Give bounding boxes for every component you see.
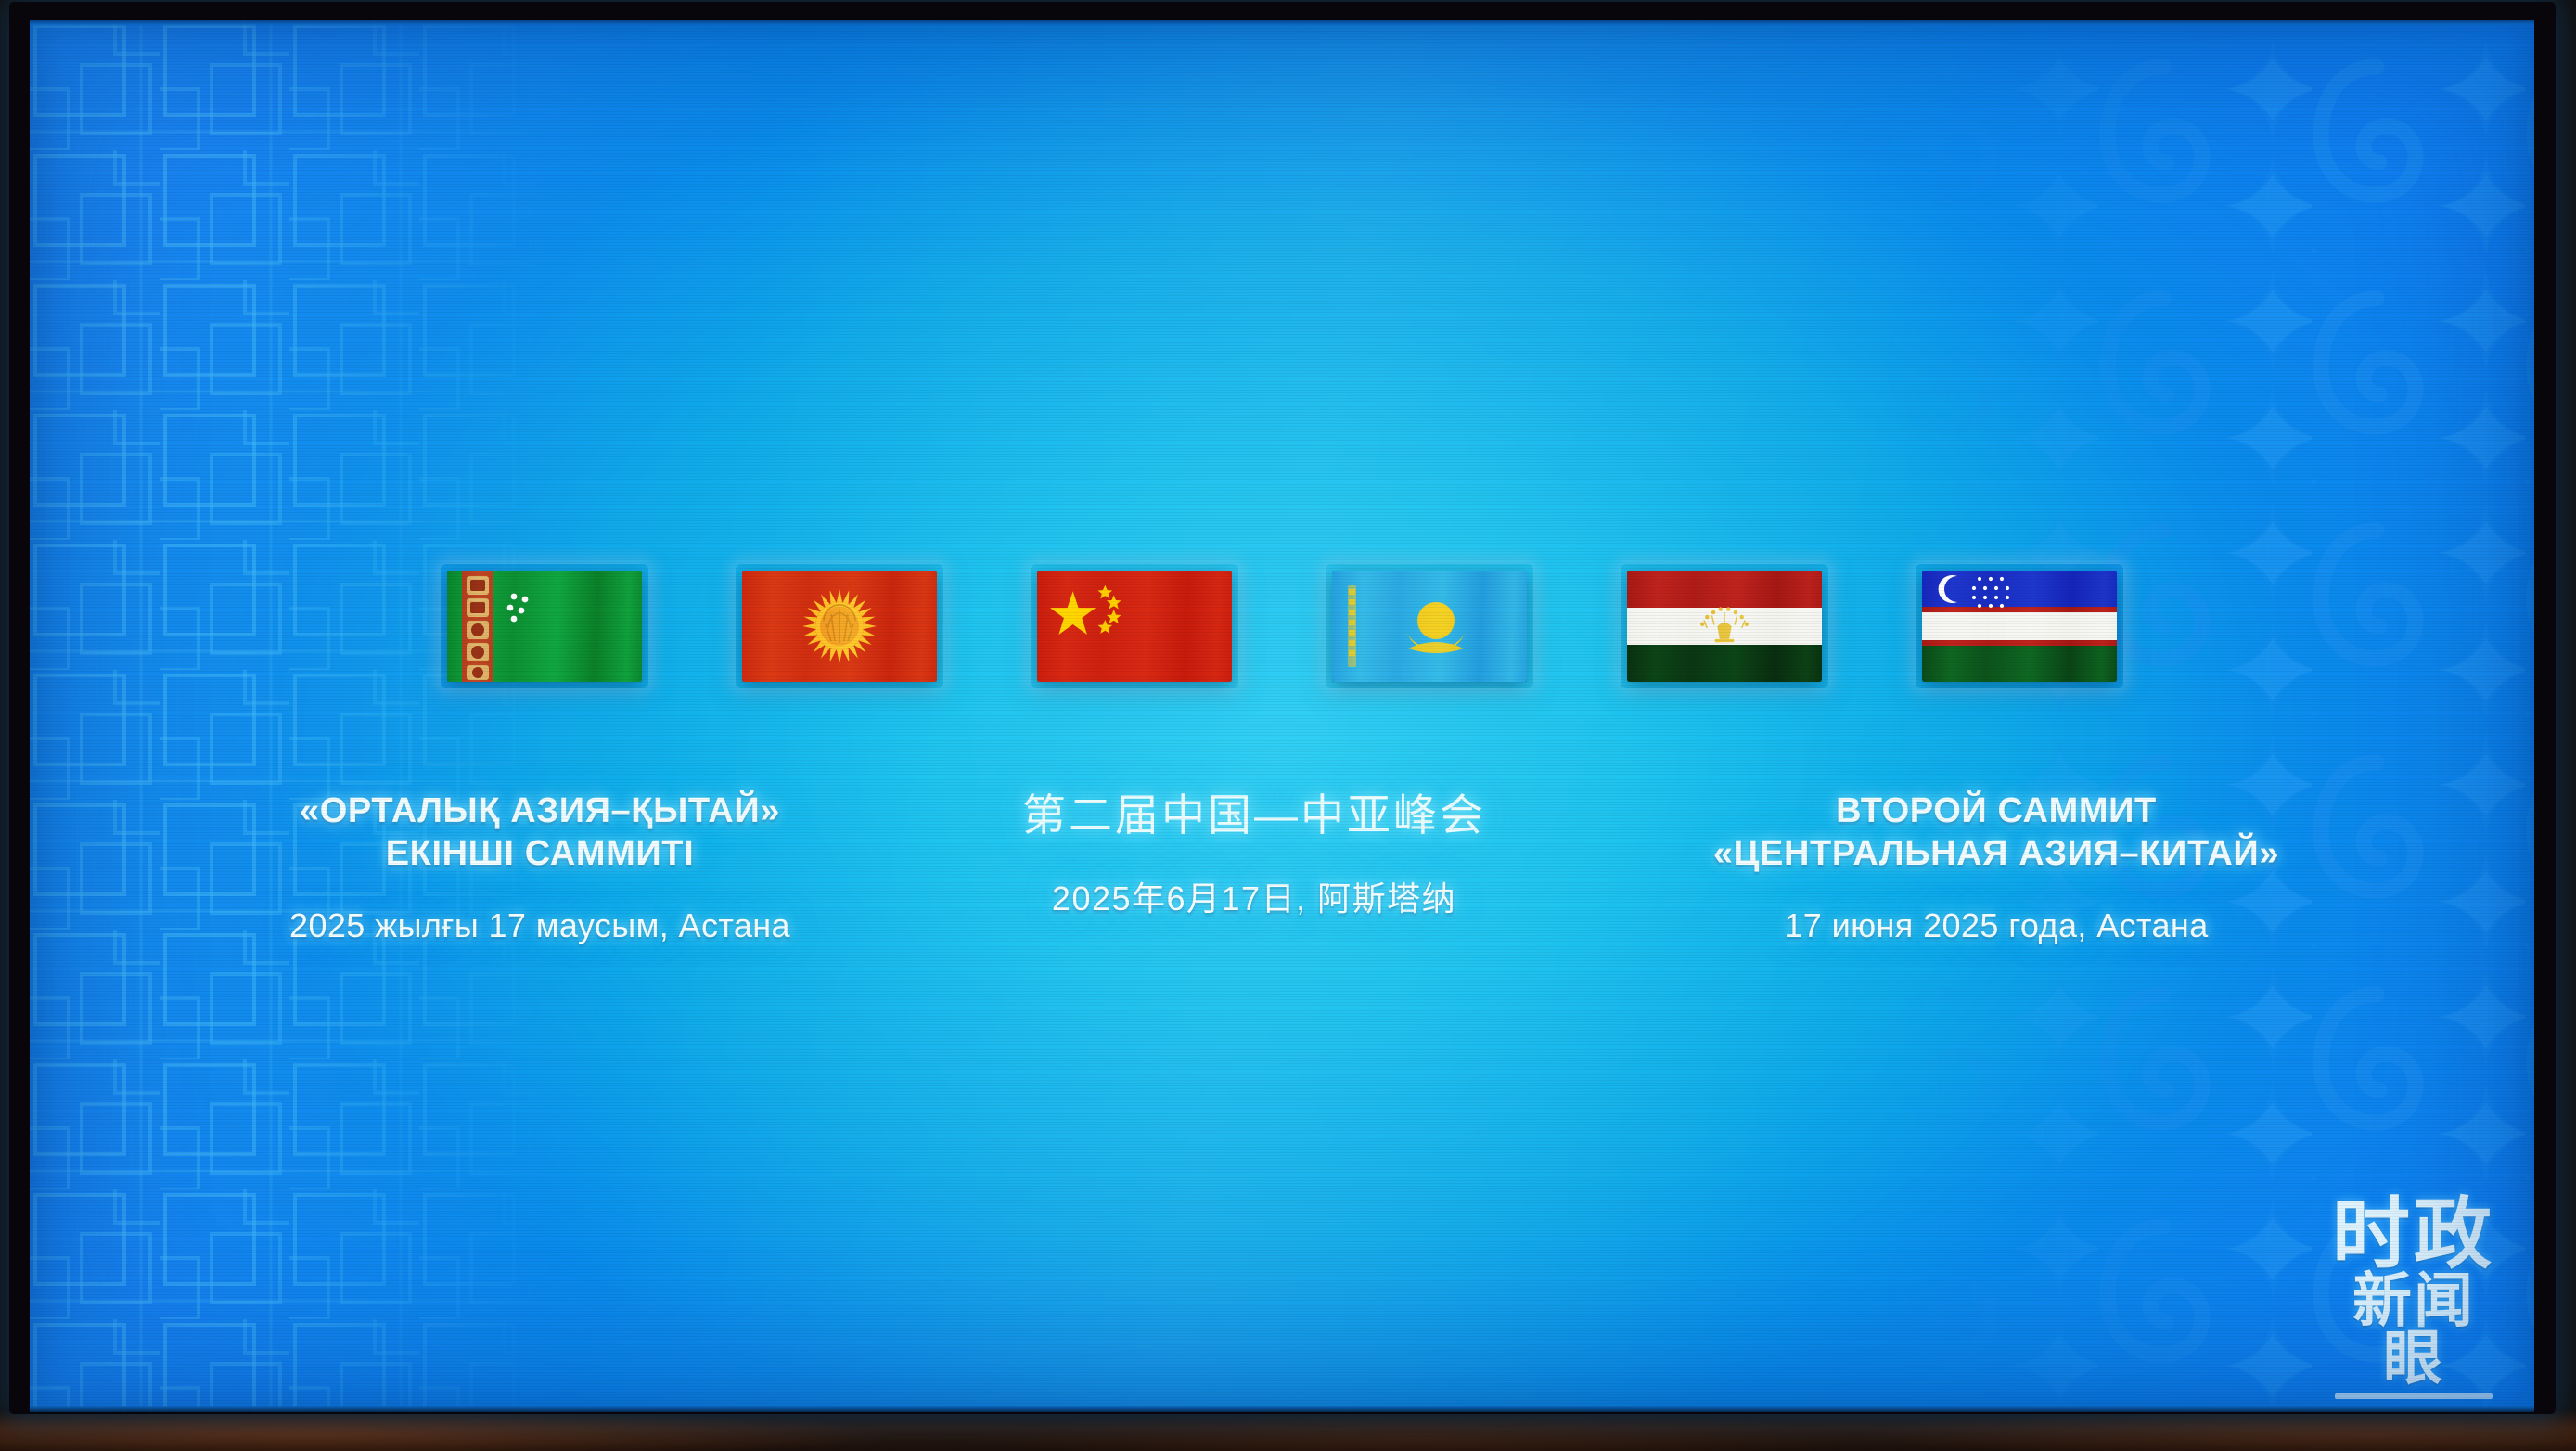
flag-kyrgyzstan: [742, 571, 937, 682]
date-russian: 17 июня 2025 года, Астана: [1579, 906, 2414, 945]
display-bezel: «ОРТАЛЫҚ АЗИЯ–ҚЫТАЙ» ЕКІНШІ САММИТІ 2025…: [9, 2, 2556, 1414]
title-kazakh-line2: ЕКІНШІ САММИТІ: [150, 833, 929, 876]
table-warm-glow: [0, 1410, 2576, 1451]
flag-china: [1037, 571, 1232, 682]
flag-kazakhstan: [1332, 571, 1527, 682]
title-kazakh: «ОРТАЛЫҚ АЗИЯ–ҚЫТАЙ» ЕКІНШІ САММИТІ: [150, 790, 929, 875]
screen-bottom-edge: [30, 1406, 2534, 1412]
flag-tajikistan: [1627, 571, 1822, 682]
flag-uzbekistan: [1922, 571, 2117, 682]
date-chinese: 2025年6月17日, 阿斯塔纳: [929, 872, 1579, 920]
title-column-chinese: 第二届中国—中亚峰会 2025年6月17日, 阿斯塔纳: [929, 790, 1579, 920]
screen-top-edge: [30, 20, 2534, 26]
broadcaster-watermark: 时政 新闻眼: [2326, 1197, 2501, 1400]
led-screen: «ОРТАЛЫҚ АЗИЯ–ҚЫТАЙ» ЕКІНШІ САММИТІ 2025…: [30, 20, 2534, 1412]
title-column-kazakh: «ОРТАЛЫҚ АЗИЯ–ҚЫТАЙ» ЕКІНШІ САММИТІ 2025…: [150, 790, 929, 945]
room-background: «ОРТАЛЫҚ АЗИЯ–ҚЫТАЙ» ЕКІНШІ САММИТІ 2025…: [0, 0, 2576, 1451]
title-russian-line2: «ЦЕНТРАЛЬНАЯ АЗИЯ–КИТАЙ»: [1579, 833, 2414, 876]
flag-row: [30, 557, 2534, 696]
watermark-underline: [2335, 1393, 2493, 1399]
title-chinese: 第二届中国—中亚峰会: [929, 790, 1579, 841]
lattice-pattern-decor: [30, 20, 549, 1412]
title-chinese-line1: 第二届中国—中亚峰会: [929, 790, 1579, 841]
date-kazakh: 2025 жылғы 17 маусым, Астана: [150, 906, 929, 945]
title-kazakh-line1: «ОРТАЛЫҚ АЗИЯ–ҚЫТАЙ»: [150, 790, 929, 833]
summit-titles: «ОРТАЛЫҚ АЗИЯ–ҚЫТАЙ» ЕКІНШІ САММИТІ 2025…: [30, 790, 2534, 945]
flag-turkmenistan: [447, 571, 642, 682]
watermark-line1: 时政: [2326, 1197, 2501, 1272]
title-russian: ВТОРОЙ САММИТ «ЦЕНТРАЛЬНАЯ АЗИЯ–КИТАЙ»: [1579, 790, 2414, 875]
title-column-russian: ВТОРОЙ САММИТ «ЦЕНТРАЛЬНАЯ АЗИЯ–КИТАЙ» 1…: [1579, 790, 2414, 945]
title-russian-line1: ВТОРОЙ САММИТ: [1579, 790, 2414, 833]
watermark-line2: 新闻眼: [2326, 1273, 2501, 1387]
